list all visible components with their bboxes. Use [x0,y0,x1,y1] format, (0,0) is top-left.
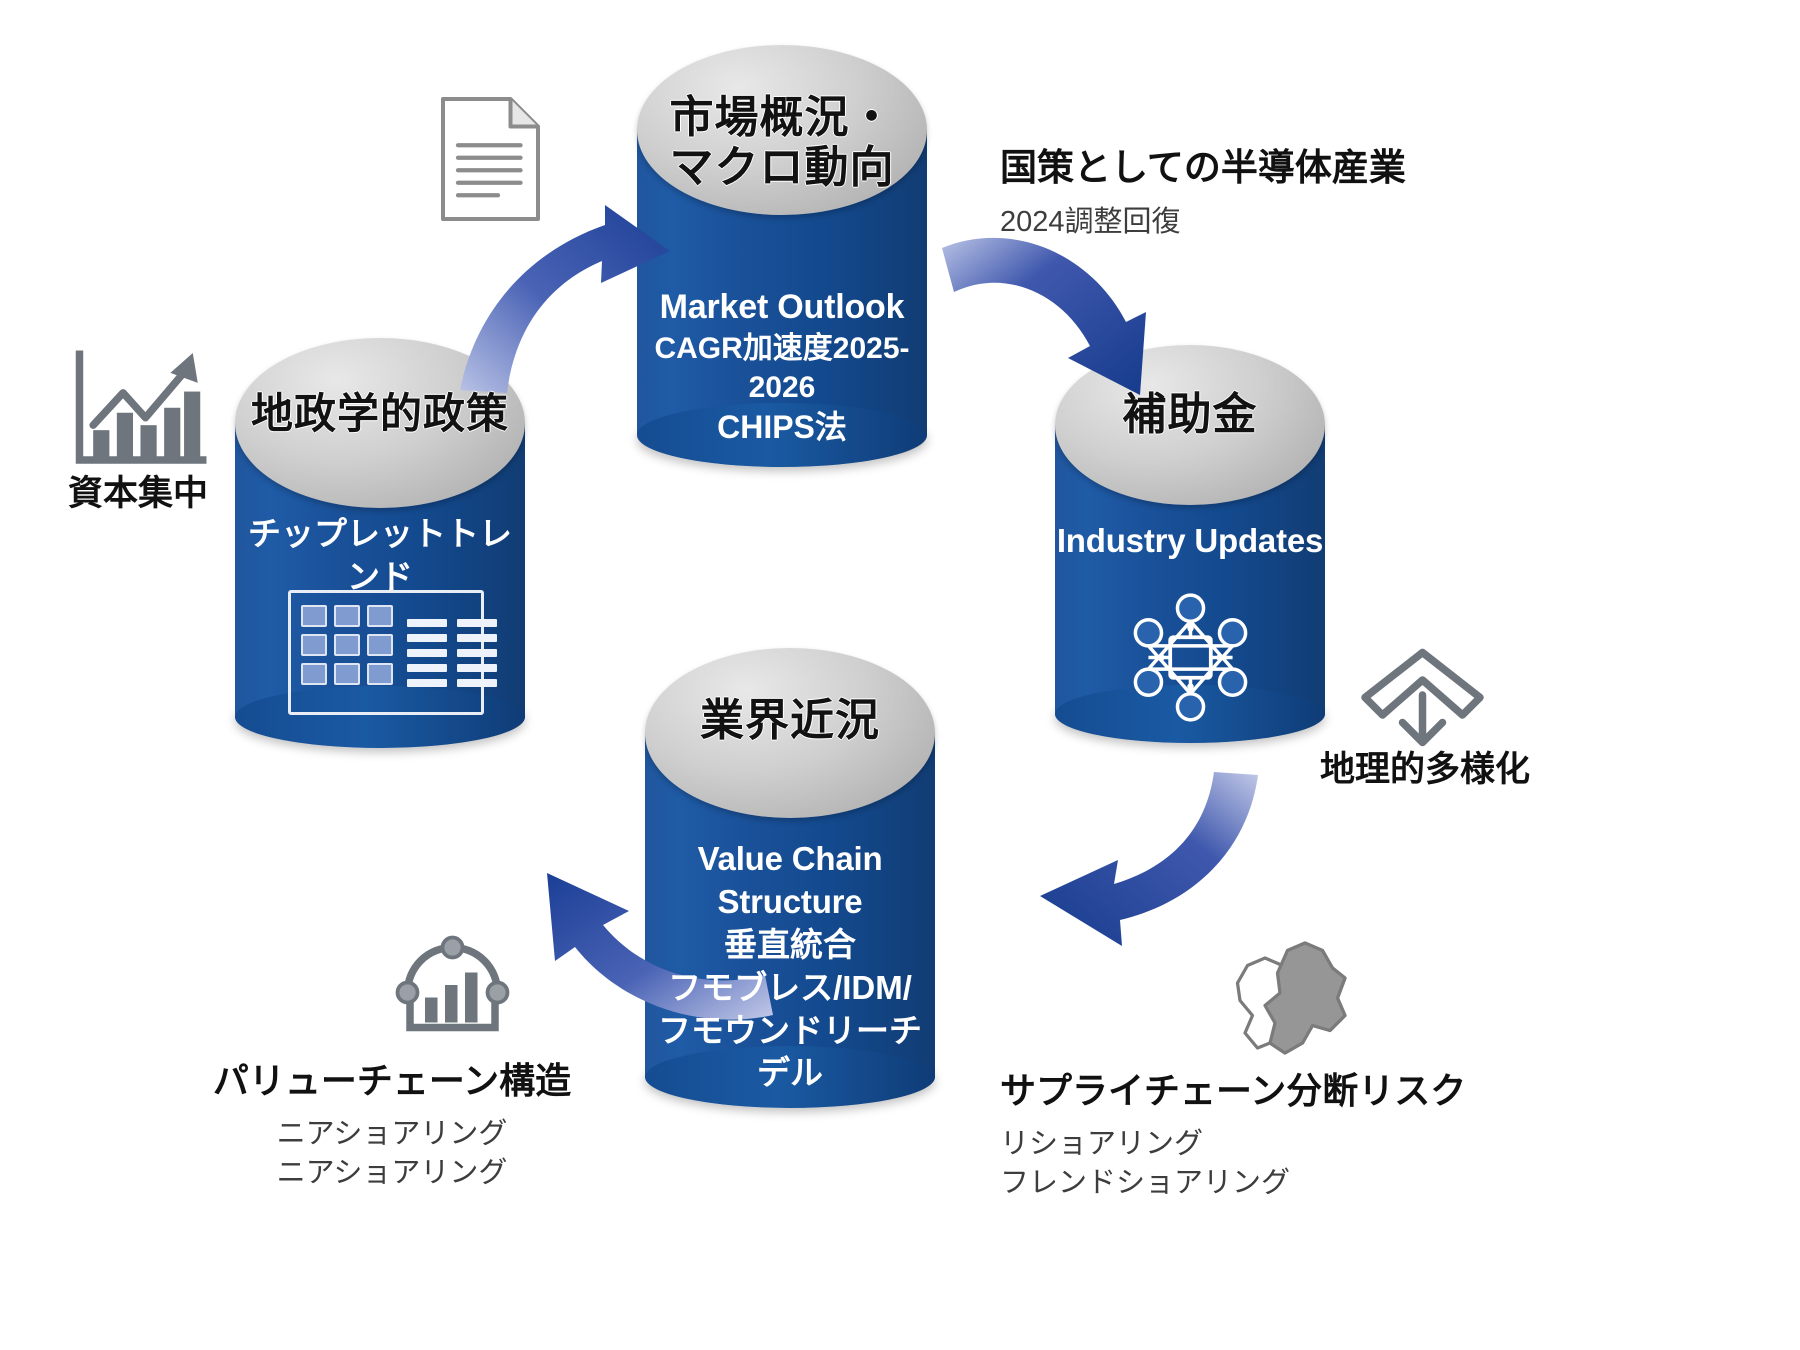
callout-sub-2: ニアショアリング [182,1154,602,1193]
arrow-right-to-bottom [1000,770,1260,950]
callout-sub-1: リショアリング [1000,1125,1466,1164]
callout-sub-1: 2024調整回復 [1000,203,1406,242]
cylinder-title-value-chain: 業界近況 [645,696,935,746]
chip-grid-icon [288,590,484,715]
callout-title: 地理的多様化 [1280,748,1570,792]
cylinder-industry-updates[interactable]: 補助金 Industry Updates [1055,345,1325,745]
subtitle-jp-2: フモブレス/IDM/ [645,967,935,1010]
cylinder-title-text: 地政学的政策 [251,390,509,437]
subtitle-jp-1: 垂直統合 [645,924,935,967]
cylinder-title-industry-updates: 補助金 [1055,390,1325,440]
callout-national-policy: 国策としての半導体産業 2024調整回復 [1000,145,1406,242]
callout-title: 国策としての半導体産業 [1000,145,1406,191]
callout-supply-chain-risk: サプライチェーン分断リスク リショアリング フレンドショアリング [1000,1068,1466,1203]
callout-sub-1: ニアショアリング [182,1115,602,1154]
chart-arc-icon [390,930,515,1040]
callout-value-chain-structure: パリューチェーン構造 ニアショアリング ニアショアリング [182,1058,602,1193]
cylinder-geopolitics[interactable]: 地政学的政策 チップレットトレンド [235,338,525,748]
cylinder-subtitle-market-outlook: Market Outlook CAGR加速度2025-2026 CHIPS法 [637,285,927,449]
cylinder-title-line2: マクロ動向 [670,143,895,192]
chip-grid-lines [407,605,497,700]
subtitle-en: Market Outlook [637,285,927,329]
subtitle-jp-1: CAGR加速度2025-2026 [637,329,927,407]
callout-title: 資本集中 [28,472,248,516]
callout-capital-concentration: 資本集中 [28,472,248,516]
subtitle-en: Value Chain Structure [645,838,935,924]
cylinder-title-line1: 市場概況・ [670,93,895,142]
cylinder-subtitle-value-chain: Value Chain Structure 垂直統合 フモブレス/IDM/ フモ… [645,838,935,1095]
growth-chart-icon [68,348,208,470]
cylinder-title-geopolitics: 地政学的政策 [235,390,525,438]
document-icon [438,95,543,223]
callout-title: サプライチェーン分断リスク [1000,1068,1466,1113]
cylinder-subtitle-geopolitics: チップレットトレンド [235,513,525,599]
download-diamond-icon [1355,645,1490,765]
callout-geographic-diversification: 地理的多様化 [1280,748,1570,792]
network-chip-icon [1118,585,1263,730]
cylinder-subtitle-industry-updates: Industry Updates [1055,520,1325,563]
subtitle-jp-2: CHIPS法 [637,407,927,449]
cylinder-market-outlook[interactable]: 市場概況・ マクロ動向 Market Outlook CAGR加速度2025-2… [637,45,927,465]
subtitle-en: Industry Updates [1055,520,1325,563]
chip-grid-squares [301,605,393,700]
map-region-icon [1215,928,1380,1068]
cylinder-title-market-outlook: 市場概況・ マクロ動向 [637,93,927,193]
diagram-canvas: 市場概況・ マクロ動向 Market Outlook CAGR加速度2025-2… [0,0,1800,1350]
cylinder-value-chain[interactable]: 業界近況 Value Chain Structure 垂直統合 フモブレス/ID… [645,648,935,1108]
cylinder-title-text: 補助金 [1123,390,1258,439]
callout-title: パリューチェーン構造 [182,1058,602,1103]
cylinder-title-text: 業界近況 [700,696,880,745]
subtitle-jp-1: チップレットトレンド [235,513,525,599]
callout-sub-2: フレンドショアリング [1000,1164,1466,1203]
subtitle-jp-3: フモウンドリーチデル [645,1010,935,1096]
